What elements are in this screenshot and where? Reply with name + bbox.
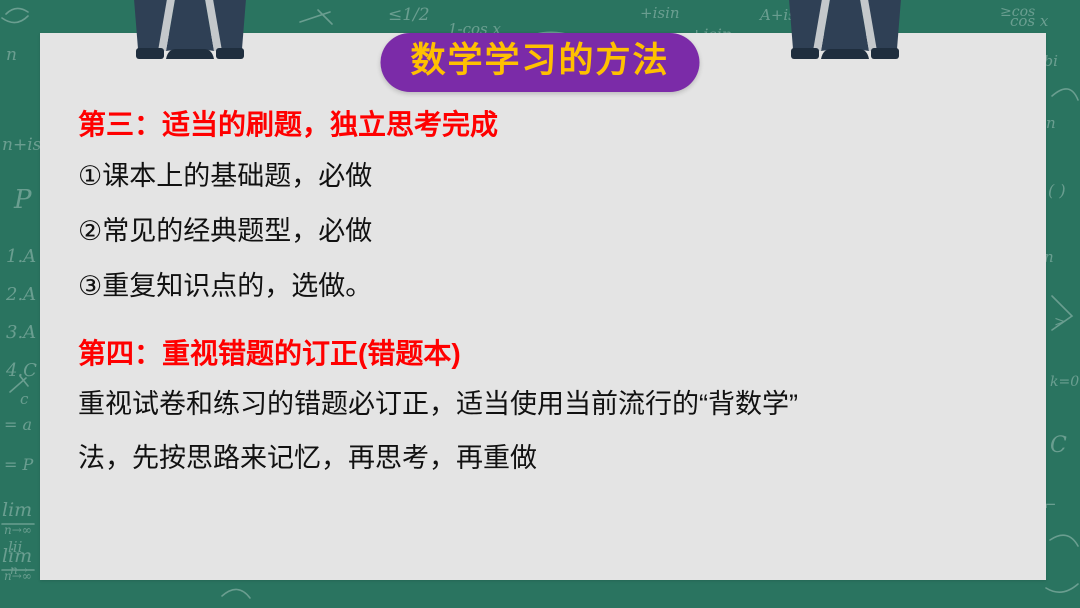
svg-text:( ): ( ) xyxy=(1048,181,1066,200)
slide-body: 第三：适当的刷题，独立思考完成 ①课本上的基础题，必做 ②常见的经典题型，必做 … xyxy=(78,108,1008,495)
svg-text:P: P xyxy=(13,185,32,215)
list-item: ③重复知识点的，选做。 xyxy=(78,270,1008,302)
section-heading-fourth: 第四：重视错题的订正(错题本) xyxy=(78,337,1008,371)
page-title: 数学学习的方法 xyxy=(410,41,669,81)
svg-text:C: C xyxy=(1050,433,1067,458)
binder-clip-left xyxy=(134,0,246,63)
svg-text:= a: = a xyxy=(4,415,32,434)
svg-text:≥cos: ≥cos xyxy=(1000,4,1035,20)
svg-text:+isin: +isin xyxy=(640,4,680,22)
list-item: ①课本上的基础题，必做 xyxy=(78,160,1008,192)
paragraph-line: 重视试卷和练习的错题必订正，适当使用当前流行的“背数学” xyxy=(78,388,1008,420)
svg-text:2.A: 2.A xyxy=(5,284,36,305)
paragraph-line: 法，先按思路来记忆，再思考，再重做 xyxy=(78,442,1008,474)
title-badge: 数学学习的方法 xyxy=(380,33,699,92)
svg-text:= P: = P xyxy=(4,455,33,474)
svg-text:3.A: 3.A xyxy=(6,322,36,343)
svg-text:k=0: k=0 xyxy=(1050,374,1079,390)
svg-text:lim: lim xyxy=(2,499,32,521)
svg-text:n: n xyxy=(6,45,17,65)
svg-text:n→∞: n→∞ xyxy=(4,569,32,583)
section-heading-third: 第三：适当的刷题，独立思考完成 xyxy=(78,108,1008,142)
svg-text:n: n xyxy=(1046,114,1056,132)
binder-clip-right xyxy=(789,0,901,63)
svg-text:>: > xyxy=(1054,314,1066,330)
svg-text:c: c xyxy=(20,390,29,408)
svg-text:1.A: 1.A xyxy=(6,246,36,267)
svg-text:lim: lim xyxy=(2,545,32,567)
svg-text:n→: n→ xyxy=(10,563,28,577)
svg-text:n→∞: n→∞ xyxy=(4,523,32,537)
list-item: ②常见的经典题型，必做 xyxy=(78,215,1008,247)
slide-root: ≤1/2 1-cos x cos x +isin +isin A+isin co… xyxy=(0,0,1080,608)
svg-text:lii: lii xyxy=(8,538,23,556)
svg-text:4.C: 4.C xyxy=(5,360,37,381)
svg-text:n+is: n+is xyxy=(2,135,42,155)
svg-text:≤1/2: ≤1/2 xyxy=(388,5,430,25)
svg-text:cos x: cos x xyxy=(1010,12,1049,30)
